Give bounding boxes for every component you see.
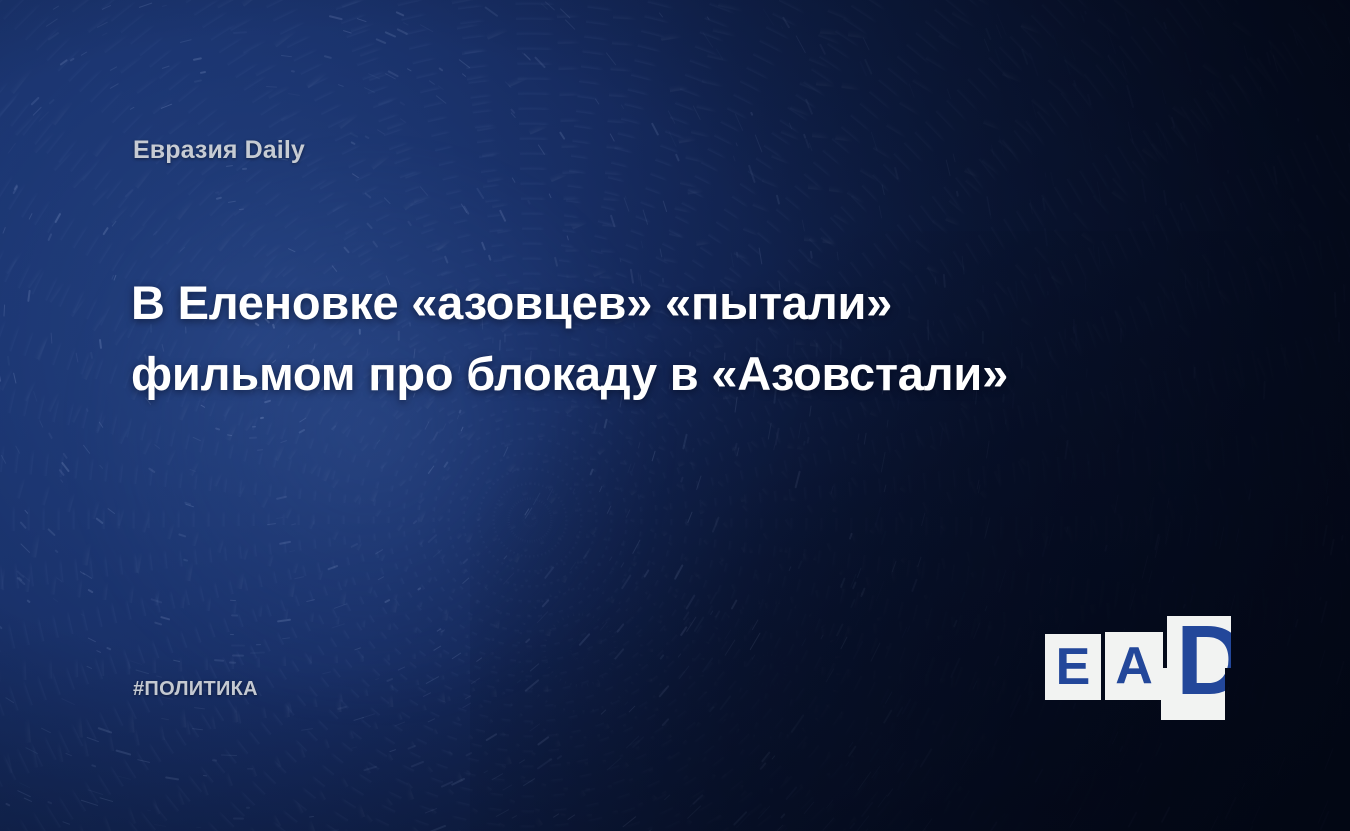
rubric-hashtag: #ПОЛИТИКА [133,678,258,701]
logo-letter-d-upper: D [1176,616,1231,668]
logo-letter-d-lower: D [1176,668,1225,712]
card-content: Евразия Daily В Еленовке «азовцев» «пыта… [0,0,1350,831]
logo-tile-d-top-half: D [1167,616,1231,668]
logo-tile-e: E [1045,634,1101,700]
brand-wordmark: Евразия Daily [133,136,305,165]
headline: В Еленовке «азовцев» «пытали» фильмом пр… [131,268,1221,409]
logo-tile-d: D D [1167,608,1231,712]
news-share-card: Евразия Daily В Еленовке «азовцев» «пыта… [0,0,1350,831]
headline-line-2: фильмом про блокаду в «Азовстали» [131,339,1221,410]
logo-tile-d-bottom-half: D [1161,668,1225,720]
headline-line-1: В Еленовке «азовцев» «пытали» [131,268,1221,339]
eadaily-logo: E A D D [1045,608,1231,712]
logo-tile-a: A [1105,632,1163,700]
